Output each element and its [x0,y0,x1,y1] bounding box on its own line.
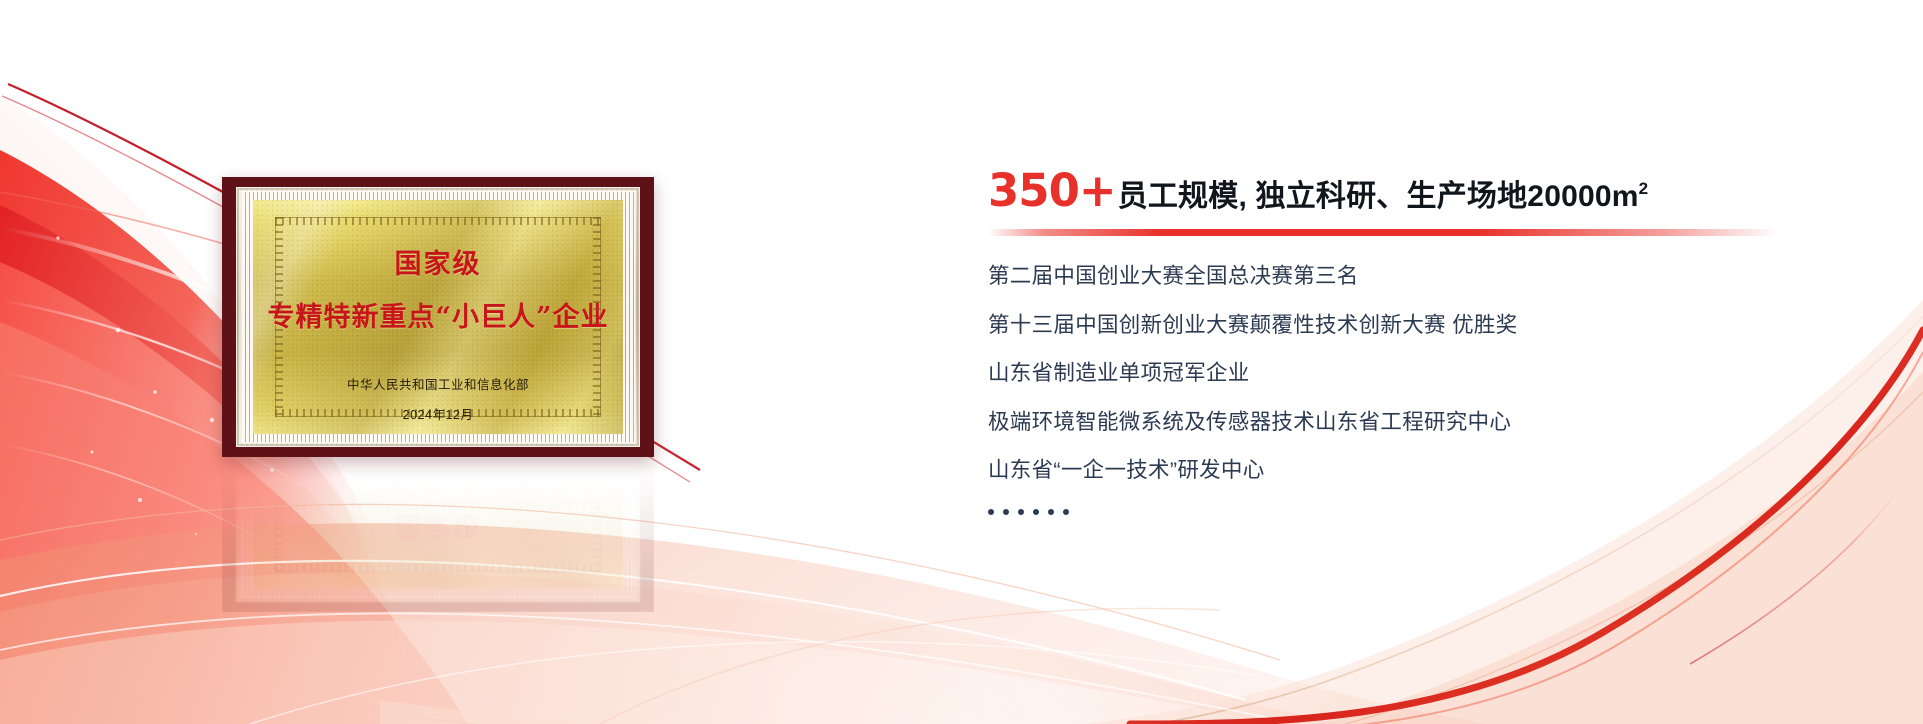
plaque-frame: 国家级 专精特新重点“小巨人”企业 中华人民共和国工业和信息化部 2024年12… [222,177,654,457]
ellipsis-dot [1003,509,1009,515]
headline-text: 员工规模, 独立科研、生产场地20000m [1118,182,1639,212]
ellipsis-dot [1063,509,1069,515]
plaque-date: 2024年12月 [403,404,474,423]
award-item: 第二届中国创业大赛全国总决赛第三名 [988,266,1868,288]
ellipsis-dot [1033,509,1039,515]
award-item: 山东省“一企一技术”研发中心 [988,460,1868,482]
awards-ellipsis [988,509,1868,515]
awards-list: 第二届中国创业大赛全国总决赛第三名 第十三届中国创新创业大赛颠覆性技术创新大赛 … [988,266,1868,515]
plaque-title-line-2: 专精特新重点“小巨人”企业 [267,295,608,334]
award-item: 第十三届中国创新创业大赛颠覆性技术创新大赛 优胜奖 [988,315,1868,337]
ellipsis-dot [1048,509,1054,515]
banner-stage: 国家级 专精特新重点“小巨人”企业 中华人民共和国工业和信息化部 2024年12… [0,0,1923,724]
headline: 350+ 员工规模, 独立科研、生产场地20000m 2 [988,168,1868,213]
headline-superscript: 2 [1639,180,1649,197]
plaque-title-line-1: 国家级 [395,242,482,281]
headline-number: 350+ [988,168,1116,213]
ellipsis-dot [1018,509,1024,515]
plaque-text-block: 国家级 专精特新重点“小巨人”企业 中华人民共和国工业和信息化部 2024年12… [253,200,623,434]
headline-underline-bar [988,229,1778,236]
plaque-issuer: 中华人民共和国工业和信息化部 [347,374,529,393]
content-column: 350+ 员工规模, 独立科研、生产场地20000m 2 第二届中国创业大赛全国… [988,168,1868,515]
ellipsis-dot [988,509,994,515]
award-item: 山东省制造业单项冠军企业 [988,363,1868,385]
award-item: 极端环境智能微系统及传感器技术山东省工程研究中心 [988,412,1868,434]
plaque-gold-plate: 国家级 专精特新重点“小巨人”企业 中华人民共和国工业和信息化部 2024年12… [253,200,623,434]
award-plaque: 国家级 专精特新重点“小巨人”企业 中华人民共和国工业和信息化部 2024年12… [222,177,654,457]
